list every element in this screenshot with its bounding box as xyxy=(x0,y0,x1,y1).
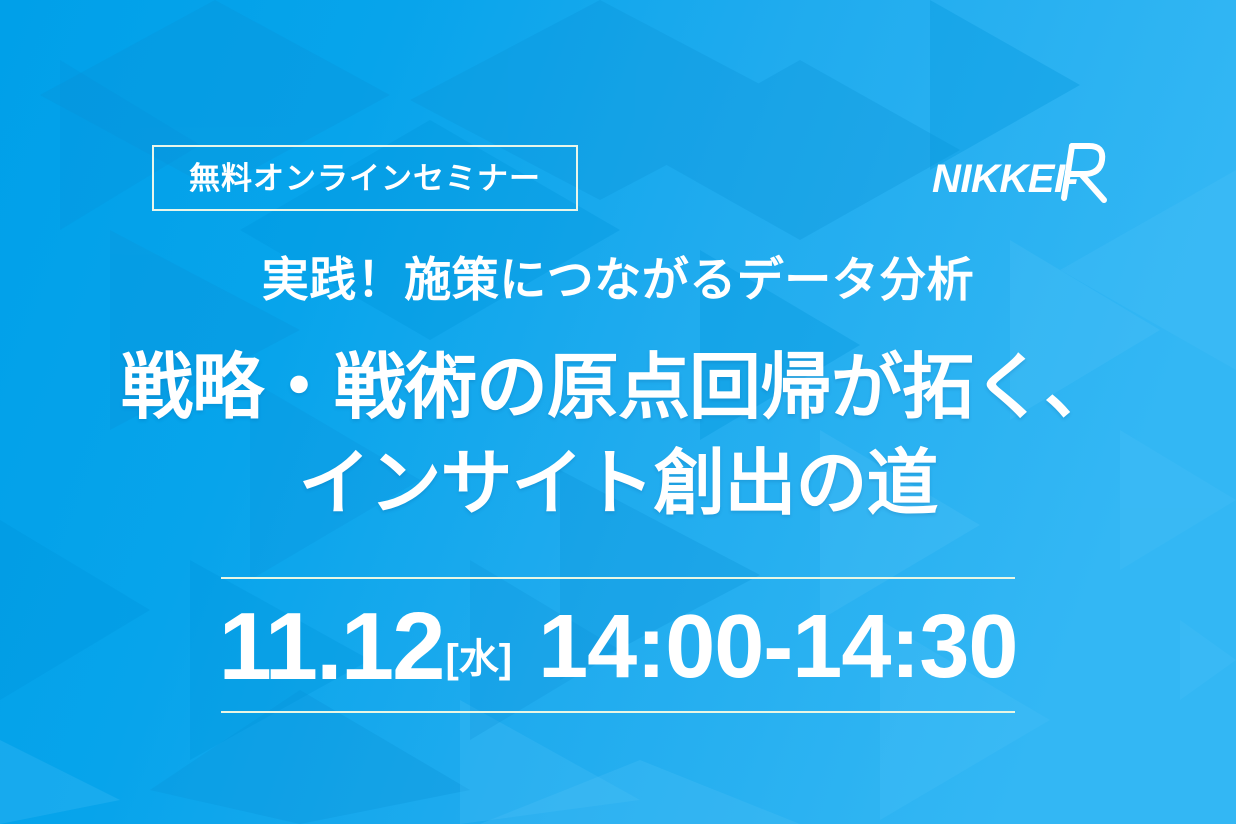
nikkei-r-logo: NIKKEI- xyxy=(932,138,1108,206)
schedule-time: 14:00-14:30 xyxy=(538,602,1017,692)
schedule-row: 11.12 [水] 14:00-14:30 xyxy=(0,597,1236,697)
schedule-divider-bottom xyxy=(221,711,1015,713)
schedule-weekday: [水] xyxy=(445,639,512,679)
schedule-divider-top xyxy=(221,577,1015,579)
seminar-title-line-2: インサイト創出の道 xyxy=(0,448,1236,520)
svg-text:NIKKEI-: NIKKEI- xyxy=(932,157,1078,201)
seminar-banner: 無料オンラインセミナー NIKKEI- 実践！施策につながるデータ分析 戦略・戦… xyxy=(0,0,1236,824)
seminar-title-line-1: 戦略・戦術の原点回帰が拓く、 xyxy=(0,352,1236,424)
banner-content: 無料オンラインセミナー NIKKEI- 実践！施策につながるデータ分析 戦略・戦… xyxy=(0,0,1236,824)
seminar-subtitle: 実践！施策につながるデータ分析 xyxy=(0,254,1236,306)
seminar-type-badge: 無料オンラインセミナー xyxy=(152,145,578,211)
seminar-type-badge-label: 無料オンラインセミナー xyxy=(189,163,541,194)
schedule-date: 11.12 xyxy=(219,599,444,695)
